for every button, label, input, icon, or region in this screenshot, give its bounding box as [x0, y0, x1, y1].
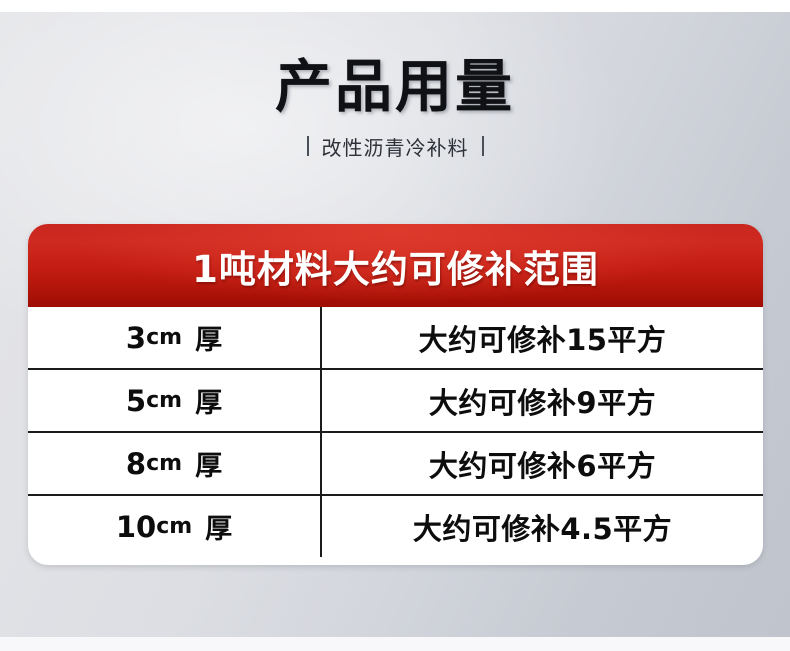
card-bottom-padding — [28, 557, 763, 565]
thickness-number: 3 — [126, 321, 146, 355]
table-row: 8cm厚 大约可修补6平方 — [28, 433, 763, 496]
thickness-cell: 3cm厚 — [28, 307, 322, 368]
area-cell: 大约可修补4.5平方 — [322, 496, 763, 557]
thickness-word: 厚 — [195, 318, 222, 357]
usage-table-card: 1吨材料大约可修补范围 3cm厚 大约可修补15平方 5cm厚 大约可修补9平方… — [28, 224, 763, 565]
vertical-bar-left-icon — [307, 136, 309, 156]
area-cell: 大约可修补6平方 — [322, 433, 763, 494]
thickness-unit: cm — [146, 451, 182, 476]
area-cell: 大约可修补9平方 — [322, 370, 763, 431]
vertical-bar-right-icon — [482, 136, 484, 156]
thickness-word: 厚 — [195, 444, 222, 483]
usage-table: 3cm厚 大约可修补15平方 5cm厚 大约可修补9平方 8cm厚 大约可修补6… — [28, 307, 763, 557]
thickness-number: 5 — [126, 384, 146, 418]
subtitle-row: 改性沥青冷补料 — [0, 132, 790, 161]
thickness-number: 8 — [126, 447, 146, 481]
thickness-word: 厚 — [205, 507, 232, 546]
table-row: 3cm厚 大约可修补15平方 — [28, 307, 763, 370]
table-row: 10cm厚 大约可修补4.5平方 — [28, 496, 763, 557]
product-usage-infographic: 产品用量 改性沥青冷补料 1吨材料大约可修补范围 3cm厚 大约可修补15平方 … — [0, 0, 790, 651]
area-cell: 大约可修补15平方 — [322, 307, 763, 368]
thickness-number: 10 — [116, 510, 156, 544]
table-row: 5cm厚 大约可修补9平方 — [28, 370, 763, 433]
thickness-unit: cm — [156, 514, 192, 539]
page-title: 产品用量 — [0, 58, 790, 118]
thickness-cell: 10cm厚 — [28, 496, 322, 557]
thickness-cell: 5cm厚 — [28, 370, 322, 431]
top-white-strip — [0, 0, 790, 12]
thickness-unit: cm — [146, 325, 182, 350]
header-block: 产品用量 改性沥青冷补料 — [0, 58, 790, 161]
page-subtitle: 改性沥青冷补料 — [322, 132, 469, 161]
thickness-unit: cm — [146, 388, 182, 413]
thickness-word: 厚 — [195, 381, 222, 420]
bottom-white-strip — [0, 637, 790, 651]
table-banner-label: 1吨材料大约可修补范围 — [192, 239, 599, 293]
thickness-cell: 8cm厚 — [28, 433, 322, 494]
table-banner: 1吨材料大约可修补范围 — [28, 224, 763, 307]
